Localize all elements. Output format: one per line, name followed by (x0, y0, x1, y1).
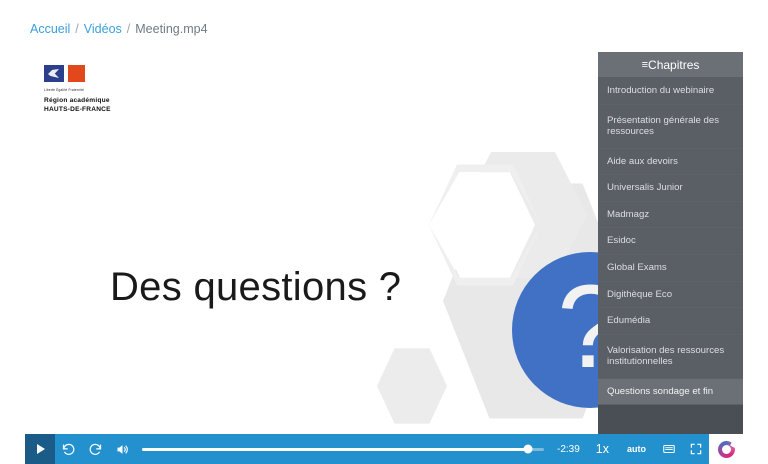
breadcrumb-separator-1: / (75, 22, 78, 36)
chapters-header-label: Chapitres (648, 58, 699, 72)
chapter-item-label: Aide aux devoirs (607, 156, 678, 168)
chapter-item[interactable]: Valorisation des ressources institutionn… (598, 335, 743, 379)
layout-list-icon (662, 442, 676, 456)
logo-region-line1: Région académique (44, 97, 111, 106)
institution-logo: Liberté Égalité Fraternité Région académ… (44, 65, 111, 114)
chapter-item[interactable]: Edumédia (598, 308, 743, 335)
chapter-item[interactable]: Universalis Junior (598, 175, 743, 202)
chapter-item[interactable]: Introduction du webinaire (598, 78, 743, 105)
logo-motto: Liberté Égalité Fraternité (44, 88, 111, 92)
chapter-item[interactable]: Questions sondage et fin (598, 379, 743, 406)
brand-logo-button[interactable] (709, 434, 743, 464)
chapter-item[interactable]: Global Exams (598, 255, 743, 282)
chapter-item-label: Edumédia (607, 315, 650, 327)
breadcrumb: Accueil/Vidéos/Meeting.mp4 (30, 21, 208, 37)
slide-title: Des questions ? (110, 265, 401, 310)
breadcrumb-current: Meeting.mp4 (135, 22, 207, 36)
player-controls[interactable]: -2:39 1x auto (25, 434, 743, 464)
progress-handle[interactable] (523, 445, 532, 454)
chapter-item[interactable]: Digithèque Eco (598, 282, 743, 309)
progress-bar[interactable] (136, 434, 550, 464)
progress-fill (142, 448, 528, 451)
french-flag-icon (44, 65, 111, 87)
chapter-item-label: Esidoc (607, 235, 636, 247)
play-icon (37, 444, 45, 454)
rewind-button[interactable] (55, 434, 82, 464)
playback-speed-button[interactable]: 1x (587, 434, 618, 464)
volume-button[interactable] (109, 434, 136, 464)
breadcrumb-home[interactable]: Accueil (30, 22, 70, 36)
layout-button[interactable] (655, 434, 682, 464)
marianne-icon (44, 65, 64, 82)
volume-icon (115, 442, 130, 457)
forward-button[interactable] (82, 434, 109, 464)
rewind-icon (61, 442, 76, 457)
chapter-item[interactable]: Esidoc (598, 228, 743, 255)
quality-button[interactable]: auto (618, 434, 655, 464)
chapter-item-label: Valorisation des ressources institutionn… (607, 345, 735, 368)
fullscreen-button[interactable] (682, 434, 709, 464)
chapter-item-label: Madmagz (607, 209, 649, 221)
chapter-item-label: Universalis Junior (607, 182, 683, 194)
flag-red-square (68, 65, 85, 82)
fullscreen-icon (689, 442, 703, 456)
chapter-item[interactable]: Présentation générale des ressources (598, 105, 743, 149)
chapter-item-label: Présentation générale des ressources (607, 115, 735, 138)
hexagon-decoration-small (377, 346, 447, 426)
breadcrumb-section[interactable]: Vidéos (84, 22, 122, 36)
chapter-item-label: Digithèque Eco (607, 289, 672, 301)
progress-track[interactable] (142, 448, 544, 451)
forward-icon (88, 442, 103, 457)
chapter-item-label: Questions sondage et fin (607, 386, 713, 398)
chapter-item-label: Introduction du webinaire (607, 85, 714, 97)
list-menu-icon: ≡ (642, 59, 647, 71)
chapter-item[interactable]: Madmagz (598, 202, 743, 229)
chapter-item-label: Global Exams (607, 262, 667, 274)
play-button[interactable] (25, 434, 55, 464)
time-remaining: -2:39 (550, 434, 587, 464)
chapters-header: ≡Chapitres (598, 52, 743, 78)
video-player[interactable]: ? Liberté Égalité Fraternité Région acad… (25, 52, 743, 434)
chapters-list[interactable]: Introduction du webinairePrésentation gé… (598, 78, 743, 405)
chapter-item[interactable]: Aide aux devoirs (598, 149, 743, 176)
brand-ring-icon (718, 441, 735, 458)
breadcrumb-separator-2: / (127, 22, 130, 36)
logo-region-line2: HAUTS-DE-FRANCE (44, 106, 111, 115)
chapters-panel[interactable]: ≡Chapitres Introduction du webinairePrés… (598, 52, 743, 434)
